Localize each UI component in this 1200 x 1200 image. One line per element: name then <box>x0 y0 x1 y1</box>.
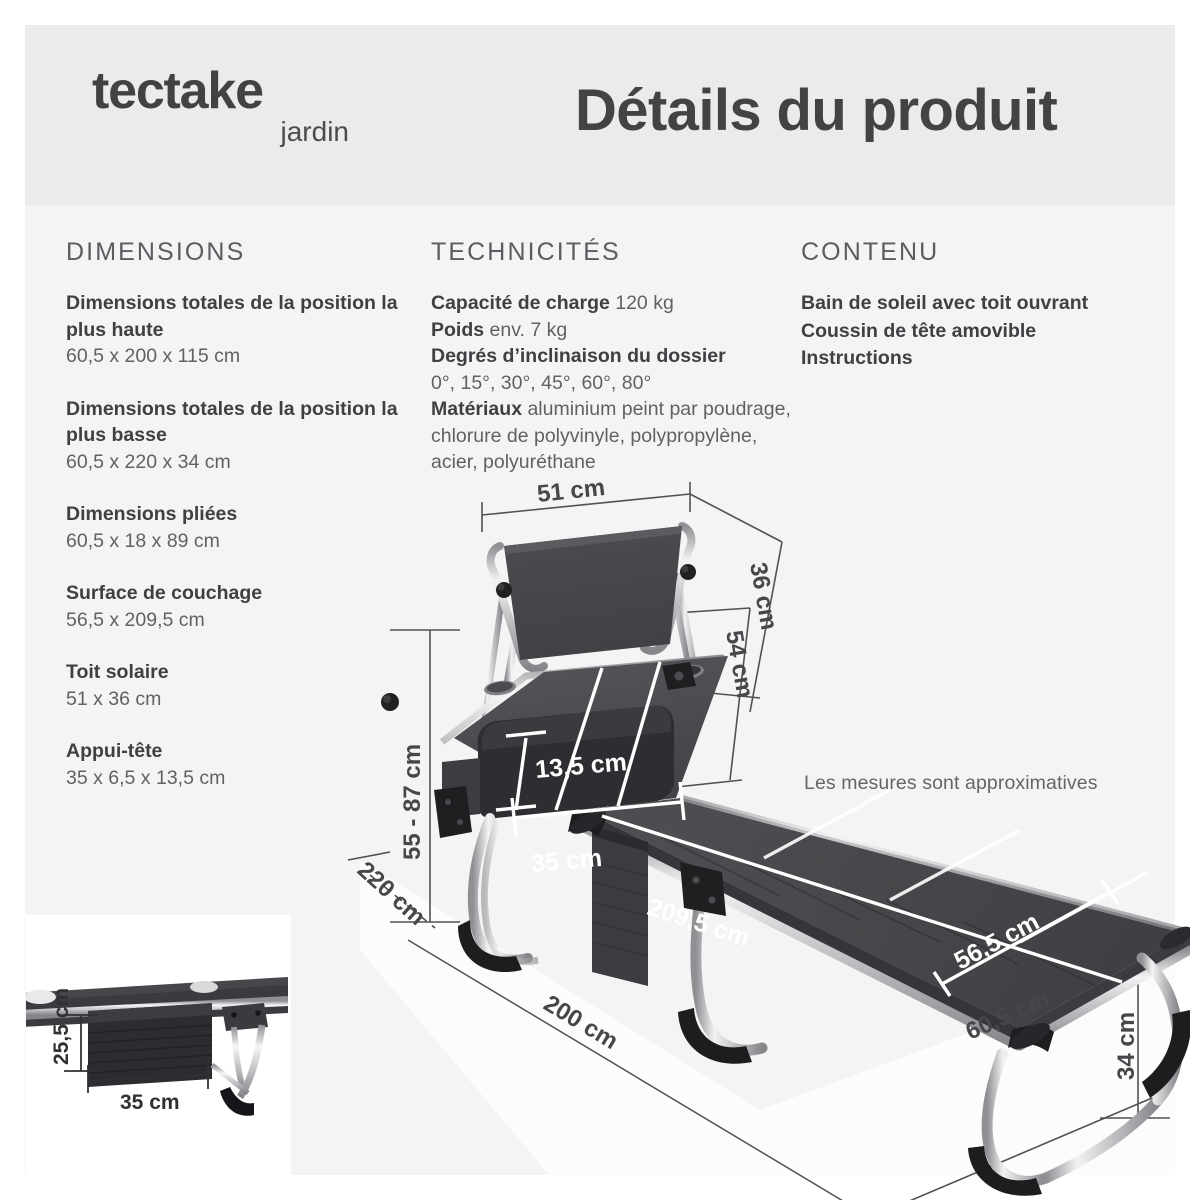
logo-wordmark: tectake <box>92 63 352 119</box>
spec-row: Capacité de charge 120 kg <box>431 290 796 317</box>
spec-label: Matériaux <box>431 398 522 420</box>
label-frame-height: 34 cm <box>1113 1012 1140 1080</box>
spec-row: Poids env. 7 kg <box>431 317 796 344</box>
label-pocket-height: 25,5 cm <box>50 988 73 1065</box>
label-pocket-width: 35 cm <box>120 1091 180 1114</box>
content-item: Bain de soleil avec toit ouvrant <box>801 290 1161 318</box>
dimension-block: Dimensions totales de la position la plu… <box>66 290 406 370</box>
product-diagram: 51 cm 36 cm 54 cm 55 - 87 cm 220 cm 200 … <box>330 480 1190 1200</box>
spec-label: Degrés d’inclinaison du dossier <box>431 345 726 367</box>
dimension-label: Dimensions totales de la position la plu… <box>66 290 406 343</box>
brand-logo: tectake jardin <box>92 63 352 147</box>
page-title: Détails du produit <box>575 77 1057 144</box>
section-heading-technicites: TECHNICITÉS <box>431 238 796 267</box>
spec-value: 120 kg <box>610 292 674 314</box>
dimension-label: Dimensions totales de la position la plu… <box>66 396 406 449</box>
section-heading-contenu: CONTENU <box>801 238 1161 267</box>
dimension-value: 60,5 x 220 x 34 cm <box>66 449 406 476</box>
spec-value: 0°, 15°, 30°, 45°, 60°, 80° <box>431 372 651 394</box>
column-contenu: CONTENU Bain de soleil avec toit ouvrant… <box>801 238 1161 373</box>
spec-value: env. 7 kg <box>484 319 567 341</box>
dimension-value: 60,5 x 200 x 115 cm <box>66 343 406 370</box>
content-item: Instructions <box>801 345 1161 373</box>
spec-row: 0°, 15°, 30°, 45°, 60°, 80° <box>431 370 796 397</box>
dimension-block: Dimensions totales de la position la plu… <box>66 396 406 476</box>
column-technicites: TECHNICITÉS Capacité de charge 120 kg Po… <box>431 238 796 476</box>
spec-row: Degrés d’inclinaison du dossier <box>431 343 796 370</box>
spec-label: Poids <box>431 319 484 341</box>
label-height-range: 55 - 87 cm <box>399 744 426 860</box>
label-backrest-length: 54 cm <box>720 628 758 700</box>
product-details-infographic: tectake jardin Détails du produit DIMENS… <box>0 0 1200 1200</box>
spec-label: Capacité de charge <box>431 292 610 314</box>
section-heading-dimensions: DIMENSIONS <box>66 238 406 267</box>
logo-subbrand: jardin <box>92 117 352 147</box>
spec-row: Matériaux aluminium peint par poudrage, … <box>431 396 796 476</box>
content-item: Coussin de tête amovible <box>801 318 1161 346</box>
folded-detail-inset: 25,5 cm 35 cm <box>26 915 291 1177</box>
